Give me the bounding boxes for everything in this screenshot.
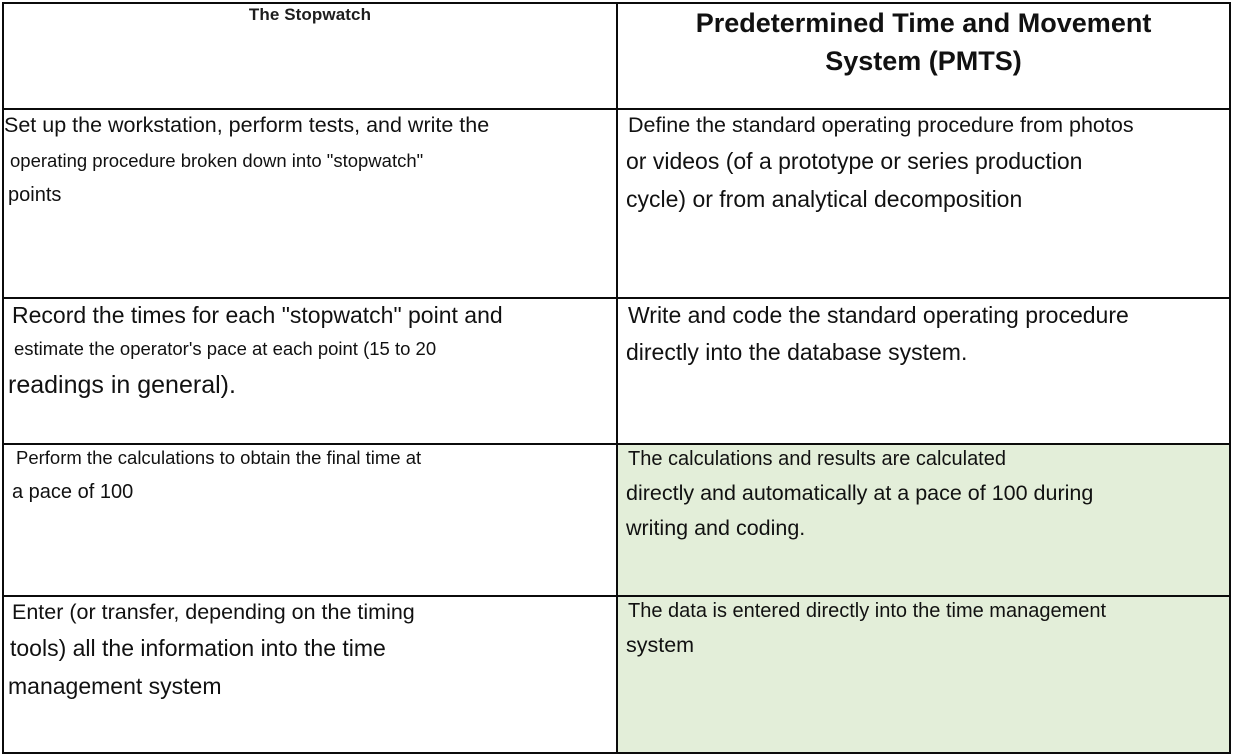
cell-pmts-step-4: The data is entered directly into the ti… <box>617 596 1230 753</box>
table-row: Enter (or transfer, depending on the tim… <box>3 596 1230 753</box>
cell-line: directly and automatically at a pace of … <box>618 478 1229 509</box>
table-row: Perform the calculations to obtain the f… <box>3 444 1230 596</box>
cell-line: estimate the operator's pace at each poi… <box>4 336 616 362</box>
cell-line: Write and code the standard operating pr… <box>618 299 1229 332</box>
cell-line: or videos (of a prototype or series prod… <box>618 145 1229 178</box>
cell-line: management system <box>4 670 616 703</box>
column-header-pmts-label-line2: System (PMTS) <box>618 42 1229 80</box>
column-header-pmts: Predetermined Time and Movement System (… <box>617 3 1230 109</box>
cell-line: writing and coding. <box>618 513 1229 544</box>
table-row: Set up the workstation, perform tests, a… <box>3 109 1230 298</box>
table-header-row: The Stopwatch Predetermined Time and Mov… <box>3 3 1230 109</box>
cell-line: Record the times for each "stopwatch" po… <box>4 299 616 332</box>
cell-stopwatch-step-1: Set up the workstation, perform tests, a… <box>3 109 617 298</box>
cell-stopwatch-step-2: Record the times for each "stopwatch" po… <box>3 298 617 444</box>
cell-line: points <box>4 181 616 210</box>
column-header-pmts-label-line1: Predetermined Time and Movement <box>618 4 1229 42</box>
cell-pmts-step-1: Define the standard operating procedure … <box>617 109 1230 298</box>
cell-line: The data is entered directly into the ti… <box>618 597 1229 626</box>
cell-line: The calculations and results are calcula… <box>618 445 1229 474</box>
cell-line: Perform the calculations to obtain the f… <box>4 445 616 471</box>
cell-pmts-step-2: Write and code the standard operating pr… <box>617 298 1230 444</box>
table-row: Record the times for each "stopwatch" po… <box>3 298 1230 444</box>
cell-line: tools) all the information into the time <box>4 632 616 665</box>
cell-line: cycle) or from analytical decomposition <box>618 183 1229 216</box>
cell-line: Set up the workstation, perform tests, a… <box>4 110 616 141</box>
cell-stopwatch-step-3: Perform the calculations to obtain the f… <box>3 444 617 596</box>
cell-line: directly into the database system. <box>618 336 1229 369</box>
column-header-stopwatch: The Stopwatch <box>3 3 617 109</box>
cell-stopwatch-step-4: Enter (or transfer, depending on the tim… <box>3 596 617 753</box>
cell-line: readings in general). <box>4 367 616 404</box>
stopwatch-vs-pmts-comparison-table: The Stopwatch Predetermined Time and Mov… <box>2 2 1231 754</box>
cell-line: Define the standard operating procedure … <box>618 110 1229 141</box>
column-header-stopwatch-label: The Stopwatch <box>4 4 616 26</box>
cell-line: a pace of 100 <box>4 478 616 507</box>
cell-line: Enter (or transfer, depending on the tim… <box>4 597 616 628</box>
cell-pmts-step-3: The calculations and results are calcula… <box>617 444 1230 596</box>
cell-line: operating procedure broken down into "st… <box>4 148 616 174</box>
cell-line: system <box>618 630 1229 661</box>
